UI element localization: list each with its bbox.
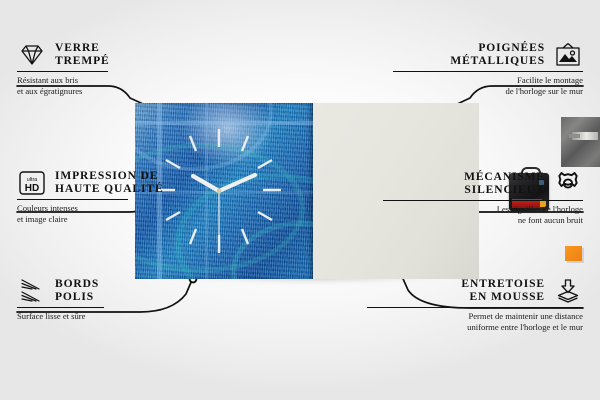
feature-underline xyxy=(17,199,128,200)
gear-icon xyxy=(553,170,583,197)
feature-desc-line1: Surface lisse et sûre xyxy=(17,311,177,321)
feature-desc-line1: Facilite le montage xyxy=(393,75,583,85)
foam-spacer xyxy=(565,246,582,261)
feature-underline xyxy=(17,71,108,72)
feature-mecanisme-silencieux: MÉCANISME SILENCIEUX Les aiguilles de l'… xyxy=(383,170,583,225)
feature-title-line2: HAUTE QUALITÉ xyxy=(55,183,164,196)
feature-title-line2: MÉTALLIQUES xyxy=(450,55,545,68)
feature-underline xyxy=(393,71,583,72)
feature-title-line2: SILENCIEUX xyxy=(464,184,545,197)
feature-desc-line1: Couleurs intenses xyxy=(17,203,197,213)
feature-bords-polis: BORDS POLIS Surface lisse et sûre xyxy=(17,278,177,322)
hanger-slot-secondary xyxy=(569,134,580,138)
feature-desc-line2: et aux égratignures xyxy=(17,86,177,96)
feature-title-line2: POLIS xyxy=(55,291,99,304)
feature-poignees-metalliques: POIGNÉES MÉTALLIQUES Facilite le montage… xyxy=(393,42,583,96)
feature-title-line2: EN MOUSSE xyxy=(469,291,545,304)
feature-desc-line2: et image claire xyxy=(17,214,197,224)
polished-edges-icon xyxy=(17,278,47,304)
feature-desc-line1: Permet de maintenir une distance xyxy=(367,311,583,321)
metal-hanger-plate xyxy=(561,117,600,167)
feature-title-line1: IMPRESSION DE xyxy=(55,170,164,183)
foam-spacer-icon xyxy=(553,278,583,304)
feature-title-line1: MÉCANISME xyxy=(464,171,545,184)
feature-title-line1: ENTRETOISE xyxy=(461,278,545,291)
feature-desc-line2: ne font aucun bruit xyxy=(383,215,583,225)
feature-entretoise-en-mousse: ENTRETOISE EN MOUSSE Permet de maintenir… xyxy=(367,278,583,332)
feature-underline xyxy=(17,307,104,308)
feature-underline xyxy=(383,200,583,201)
feature-title-line1: VERRE xyxy=(55,42,110,55)
feature-title-line2: TREMPÉ xyxy=(55,55,110,68)
feature-desc-line1: Les aiguilles de l'horloge xyxy=(383,204,583,214)
hanging-frame-icon xyxy=(553,42,583,68)
feature-desc-line2: uniforme entre l'horloge et le mur xyxy=(367,322,583,332)
feature-desc-line1: Résistant aux bris xyxy=(17,75,177,85)
feature-verre-trempe: VERRE TREMPÉ Résistant aux bris et aux é… xyxy=(17,42,177,96)
feature-desc-line2: de l'horloge sur le mur xyxy=(393,86,583,96)
ultra-hd-icon: ultra HD xyxy=(17,170,47,196)
feature-title-line1: BORDS xyxy=(55,278,99,291)
infographic-canvas: VERRE TREMPÉ Résistant aux bris et aux é… xyxy=(0,0,600,400)
feature-title-line1: POIGNÉES xyxy=(478,42,545,55)
diamond-icon xyxy=(17,43,47,67)
ultra-hd-icon-main: HD xyxy=(25,183,39,194)
feature-impression-haute-qualite: ultra HD IMPRESSION DE HAUTE QUALITÉ Cou… xyxy=(17,170,197,224)
feature-underline xyxy=(367,307,583,308)
